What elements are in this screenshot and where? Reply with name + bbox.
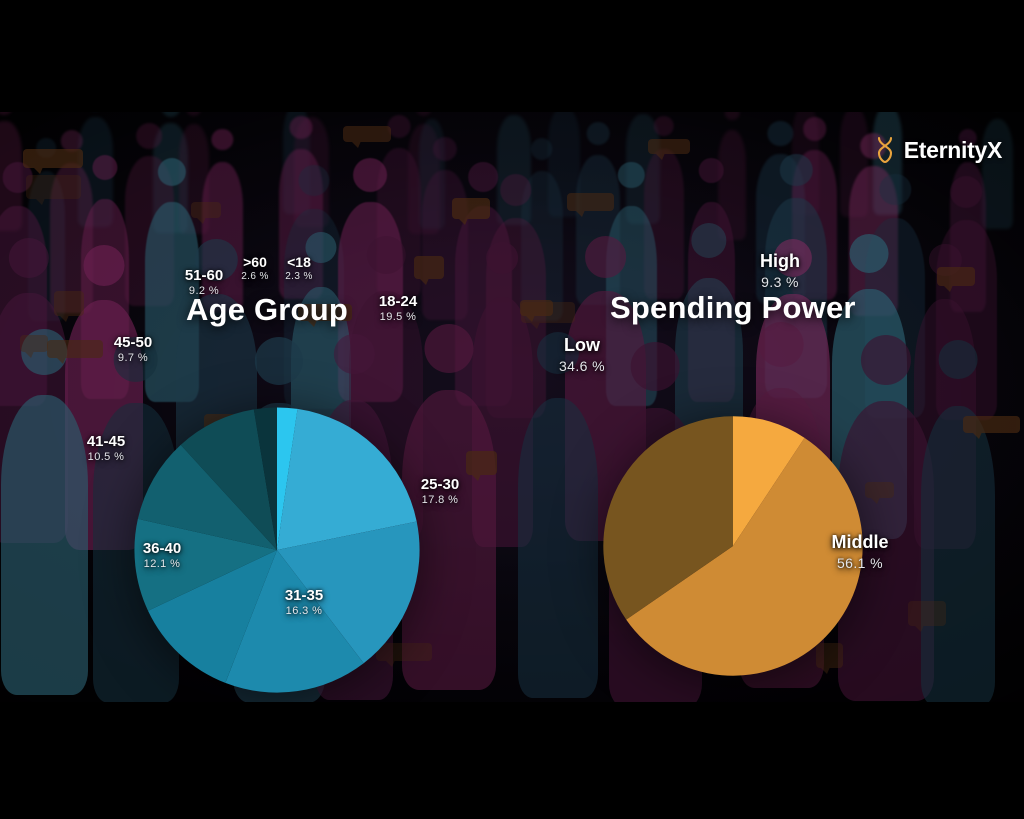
chat-bubble-icon xyxy=(648,139,690,154)
age-label-41-45: 41-45 10.5 % xyxy=(70,433,142,463)
chat-bubble-icon xyxy=(466,451,497,475)
spending-power-chart-title: Spending Power xyxy=(610,290,856,326)
chat-bubble-icon xyxy=(54,291,84,316)
chat-bubble-icon xyxy=(908,601,946,626)
chat-bubble-icon xyxy=(452,198,490,219)
age-label-lt18: <18 2.3 % xyxy=(276,254,322,282)
slide-frame: EternityX Age Group Spending Power >60 2… xyxy=(0,112,1024,702)
age-label-25-30: 25-30 17.8 % xyxy=(404,476,476,506)
chat-bubble-icon xyxy=(865,482,894,498)
chat-bubble-icon xyxy=(23,149,83,168)
chat-bubble-icon xyxy=(26,175,81,199)
age-label-51-60: 51-60 9.2 % xyxy=(170,267,238,297)
chat-bubble-icon xyxy=(963,416,1020,433)
hourglass-infinity-icon xyxy=(875,136,895,164)
age-label-45-50: 45-50 9.7 % xyxy=(98,334,168,364)
chat-bubble-icon xyxy=(521,302,575,323)
spending-label-middle: Middle 56.1 % xyxy=(818,532,902,571)
age-group-chart-title: Age Group xyxy=(186,292,348,328)
age-label-31-35: 31-35 16.3 % xyxy=(268,587,340,617)
chat-bubble-icon xyxy=(20,335,48,352)
age-label-gt60: >60 2.6 % xyxy=(232,254,278,282)
slide-stage: EternityX Age Group Spending Power >60 2… xyxy=(0,0,1024,819)
chat-bubble-icon xyxy=(343,126,391,142)
chat-bubble-icon xyxy=(47,340,103,358)
chat-bubble-icon xyxy=(567,193,614,211)
spending-label-low: Low 34.6 % xyxy=(544,335,620,374)
chat-bubble-icon xyxy=(937,267,975,286)
spending-label-high: High 9.3 % xyxy=(742,251,818,290)
age-label-36-40: 36-40 12.1 % xyxy=(126,540,198,570)
letterbox-bottom-bar xyxy=(0,702,1024,819)
eternityx-logo: EternityX xyxy=(875,136,1002,164)
chat-bubble-icon xyxy=(191,202,221,218)
chat-bubble-icon xyxy=(414,256,444,279)
brand-name: EternityX xyxy=(904,137,1002,164)
chat-bubble-icon xyxy=(520,300,553,316)
letterbox-top-bar xyxy=(0,0,1024,112)
age-label-18-24: 18-24 19.5 % xyxy=(362,293,434,323)
